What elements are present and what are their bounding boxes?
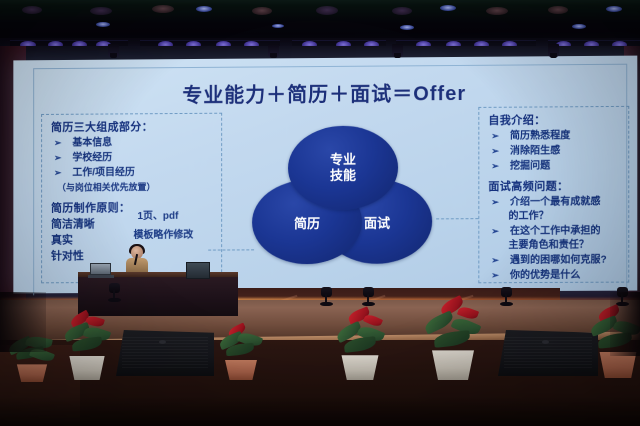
desk-microphone (362, 288, 375, 306)
ceiling-light (272, 24, 284, 28)
flower-pot (338, 355, 382, 380)
arrow-bullet-icon: ➢ (488, 253, 499, 268)
list-item: ➢ 遇到的困哪如何克服? (488, 253, 621, 269)
arrow-bullet-icon: ➢ (488, 129, 499, 144)
list-item-continuation: 的工作？ (488, 209, 621, 224)
venn-resume-label: 简历 (294, 213, 320, 232)
arrow-bullet-icon: ➢ (488, 195, 499, 210)
desk-microphone (320, 288, 333, 306)
venn-circle-skills: 专业 技能 (288, 125, 398, 210)
stage-monitor-speaker (498, 330, 598, 376)
laptop (88, 263, 114, 278)
screen-mount (548, 44, 559, 57)
ceiling-light (486, 7, 508, 15)
ceiling-light (252, 7, 272, 15)
laptop-screen (90, 263, 111, 275)
arrow-bullet-icon: ➢ (488, 224, 499, 239)
list-item: ➢ 介绍一个最有成就感 (488, 194, 621, 210)
venn-diagram: 专业 技能 简历 面试 (252, 125, 432, 274)
list-item: ➢ 简历熟悉程度 (488, 128, 621, 144)
list-item-label: 遇到的困哪如何克服? (504, 253, 607, 269)
venn-interview-label: 面试 (364, 212, 390, 231)
list-item-label: 挖掘问题 (504, 159, 550, 174)
desk-monitor (186, 262, 210, 279)
list-item: ➢ 基本信息 (51, 135, 214, 151)
list-item-label: 在这个工作中承担的 (504, 223, 601, 239)
flower-pot (66, 356, 108, 380)
screen-mount (392, 44, 403, 57)
list-item: ➢ 挖掘问题 (488, 158, 621, 174)
ceiling-light (440, 5, 456, 11)
ceiling-light (572, 24, 586, 29)
screen-mount (268, 44, 279, 57)
arrow-bullet-icon: ➢ (51, 136, 61, 151)
slide-title: 专业能力＋简历＋面试＝Offer (13, 76, 637, 110)
list-item: ➢ 工作/项目经历 (51, 165, 214, 181)
right-heading-2: 面试高频问题： (488, 179, 621, 195)
list-item: ➢ 消除陌生感 (488, 143, 621, 159)
stage-monitor-speaker (116, 330, 214, 376)
auditorium-scene: 专业能力＋简历＋面试＝Offer 简历三大组成部分： ➢ 基本信息 ➢ 学校经历… (0, 0, 640, 426)
list-item: ➢ 学校经历 (51, 150, 214, 166)
list-item-label: 简历熟悉程度 (504, 128, 570, 143)
list-item-label: 基本信息 (66, 135, 112, 150)
list-item-label: 工作/项目经历 (66, 165, 134, 180)
flower-pot (14, 364, 50, 382)
right-shadow-overlay (610, 292, 640, 356)
list-item-label: 学校经历 (66, 150, 112, 165)
left-note-1: （与岗位相关优先放置） (51, 180, 214, 195)
list-item-label: 你的优势是什么 (504, 268, 580, 283)
ceiling-light (400, 25, 414, 30)
desk-microphone (500, 288, 513, 306)
ceiling-light (316, 6, 338, 15)
list-item-label: 消除陌生感 (504, 143, 560, 158)
list-item-continuation: 主要角色和责任？ (488, 238, 621, 253)
potted-plant (66, 320, 108, 380)
potted-plant (222, 330, 260, 380)
ceiling-light (152, 5, 174, 13)
dashed-connector-left (208, 249, 254, 250)
potted-plant (428, 306, 478, 380)
arrow-bullet-icon: ➢ (488, 268, 499, 283)
ceiling-light (392, 7, 412, 15)
flower-pot (222, 360, 260, 380)
left-heading-1: 简历三大组成部分： (51, 120, 214, 136)
list-item: ➢ 在这个工作中承担的 (488, 223, 621, 239)
desk-microphone (108, 284, 121, 302)
podium (78, 276, 238, 316)
list-item: ➢ 你的优势是什么 (488, 268, 621, 284)
arrow-bullet-icon: ➢ (488, 159, 499, 174)
bottom-shadow-overlay (0, 396, 640, 426)
venn-skills-line2: 技能 (330, 168, 356, 184)
right-heading-1: 自我介绍： (488, 113, 621, 129)
ceiling-light (22, 6, 42, 14)
projection-screen: 专业能力＋简历＋面试＝Offer 简历三大组成部分： ➢ 基本信息 ➢ 学校经历… (13, 56, 637, 294)
left-side-note-2: 模板略作修改 (134, 226, 194, 241)
list-item-label: 介绍一个最有成就感 (504, 194, 601, 210)
ceiling-light (548, 6, 568, 14)
flower-pot (428, 350, 478, 380)
venn-skills-line1: 专业 (330, 152, 356, 168)
ceiling-light (606, 6, 622, 12)
left-side-note-1: 1页、pdf (137, 207, 178, 222)
right-content-panel: 自我介绍： ➢ 简历熟悉程度 ➢ 消除陌生感 ➢ 挖掘问题 面试高频问题： ➢ … (478, 106, 629, 283)
arrow-bullet-icon: ➢ (488, 144, 499, 159)
presentation-slide: 专业能力＋简历＋面试＝Offer 简历三大组成部分： ➢ 基本信息 ➢ 学校经历… (13, 56, 637, 294)
left-heading-2: 简历制作原则： (51, 201, 214, 217)
ceiling-light (96, 22, 110, 27)
screen-mount (108, 44, 119, 57)
potted-plant (338, 318, 382, 380)
arrow-bullet-icon: ➢ (51, 166, 61, 181)
ceiling-light (90, 7, 112, 15)
ceiling-light (196, 6, 212, 12)
laptop-base (88, 275, 114, 278)
left-shadow-overlay (0, 292, 46, 352)
arrow-bullet-icon: ➢ (51, 151, 61, 166)
dashed-connector-right (436, 218, 478, 219)
